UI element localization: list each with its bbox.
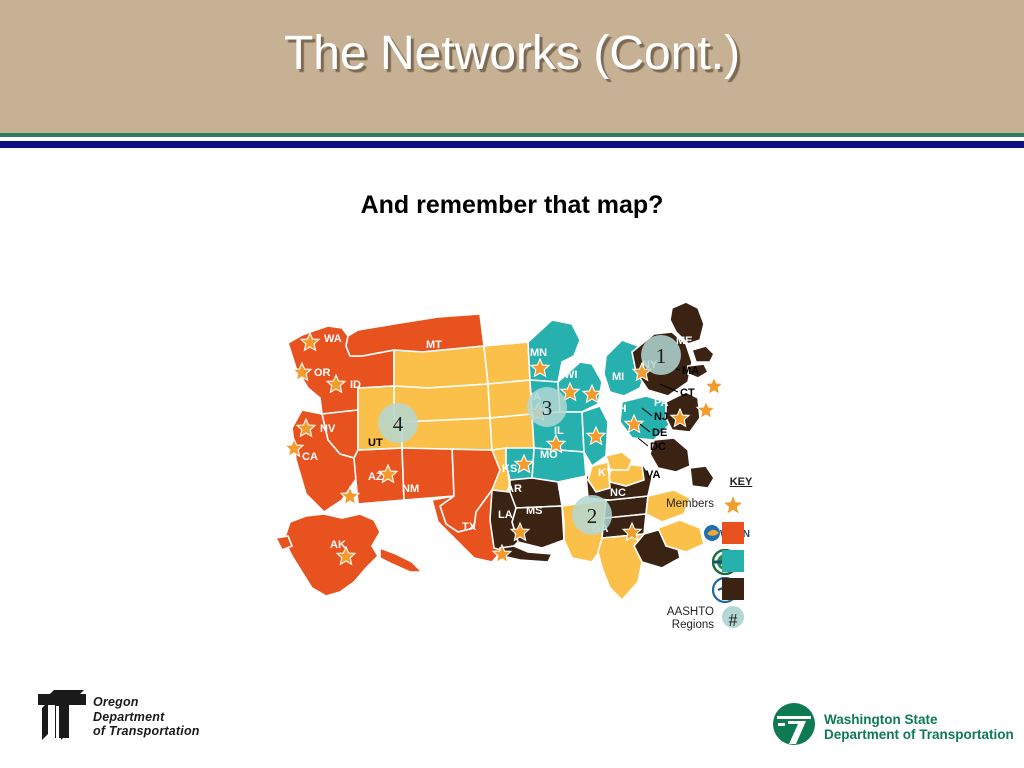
wsdot-logo-text: Washington State Department of Transport…: [824, 712, 1014, 742]
region-circle-3: 3: [542, 396, 553, 420]
odot-logo-text: Oregon Department of Transportation: [93, 695, 200, 739]
state-label-ID: ID: [350, 379, 361, 391]
subtitle-text: And remember that map?: [0, 191, 1024, 220]
key-row-wtkn: WTKN: [652, 522, 762, 548]
state-label-CT: CT: [680, 387, 695, 399]
key-row-netkn: [652, 578, 762, 604]
odot-line-3: of Transportation: [93, 724, 200, 738]
aashto-line-2: Regions: [672, 619, 714, 631]
wsdot-logo: Washington State Department of Transport…: [772, 702, 1022, 754]
state-label-NJ: NJ: [654, 411, 668, 423]
state-label-KS: KS: [502, 463, 517, 475]
state-label-NV: NV: [320, 423, 336, 435]
state-label-TN: TN: [558, 487, 573, 499]
odot-logo: Oregon Department of Transportation: [36, 688, 246, 754]
key-row-mtkn: [652, 550, 762, 576]
state-label-MN: MN: [530, 347, 547, 359]
state-label-OR: OR: [314, 367, 331, 379]
key-label-members: Members: [652, 498, 714, 510]
state-label-IL: IL: [554, 425, 564, 437]
state-label-MT: MT: [426, 339, 442, 351]
key-label-aashto: AASHTO Regions: [652, 606, 714, 632]
state-label-AZ: AZ: [368, 471, 383, 483]
region-circle-2: 2: [587, 504, 598, 528]
key-row-aashto: AASHTO Regions #: [652, 606, 762, 640]
state-label-MS: MS: [526, 505, 543, 517]
state-label-PA: PA: [654, 397, 669, 409]
odot-line-2: Department: [93, 710, 164, 724]
wsdot-line-1: Washington State: [824, 712, 938, 727]
aashto-line-1: AASHTO: [667, 606, 714, 618]
state-label-CA: CA: [302, 451, 318, 463]
state-label-ME: ME: [676, 335, 693, 347]
state-label-NC: NC: [610, 487, 626, 499]
state-label-AR: AR: [506, 483, 522, 495]
region-circle-4: 4: [393, 412, 404, 436]
star-icon: [722, 494, 744, 516]
slide-canvas: The Networks (Cont.) And remember that m…: [0, 0, 1024, 768]
state-label-MO: MO: [540, 449, 558, 461]
state-label-MI: MI: [612, 371, 624, 383]
state-label-WA: WA: [324, 333, 342, 345]
swatch-brown: [722, 578, 744, 600]
state-label-AK: AK: [330, 539, 346, 551]
state-label-OH: OH: [610, 403, 627, 415]
page-title: The Networks (Cont.): [0, 26, 1024, 81]
divider-navy: [0, 141, 1024, 148]
region-circle-1: 1: [656, 344, 667, 368]
aashto-region-swatch: #: [722, 606, 744, 628]
wsdot-mark-icon: [772, 702, 816, 746]
state-label-KY: KY: [598, 467, 614, 479]
odot-mark-icon: [36, 688, 88, 742]
swatch-orange: [722, 522, 744, 544]
odot-line-1: Oregon: [93, 695, 139, 709]
state-label-TX: TX: [462, 521, 477, 533]
wsdot-line-2: Department of Transportation: [824, 727, 1014, 742]
state-label-DC: DC: [650, 441, 666, 453]
state-label-WI: WI: [564, 369, 577, 381]
key-row-members: Members: [652, 494, 762, 520]
state-label-DE: DE: [652, 427, 667, 439]
state-label-UT: UT: [368, 437, 383, 449]
state-label-LA: LA: [498, 509, 513, 521]
map-key: KEY Members WTKN: [652, 476, 762, 641]
swatch-teal: [722, 550, 744, 572]
state-label-NM: NM: [402, 483, 419, 495]
key-title: KEY: [720, 476, 762, 488]
state-label-MA: MA: [682, 365, 699, 377]
